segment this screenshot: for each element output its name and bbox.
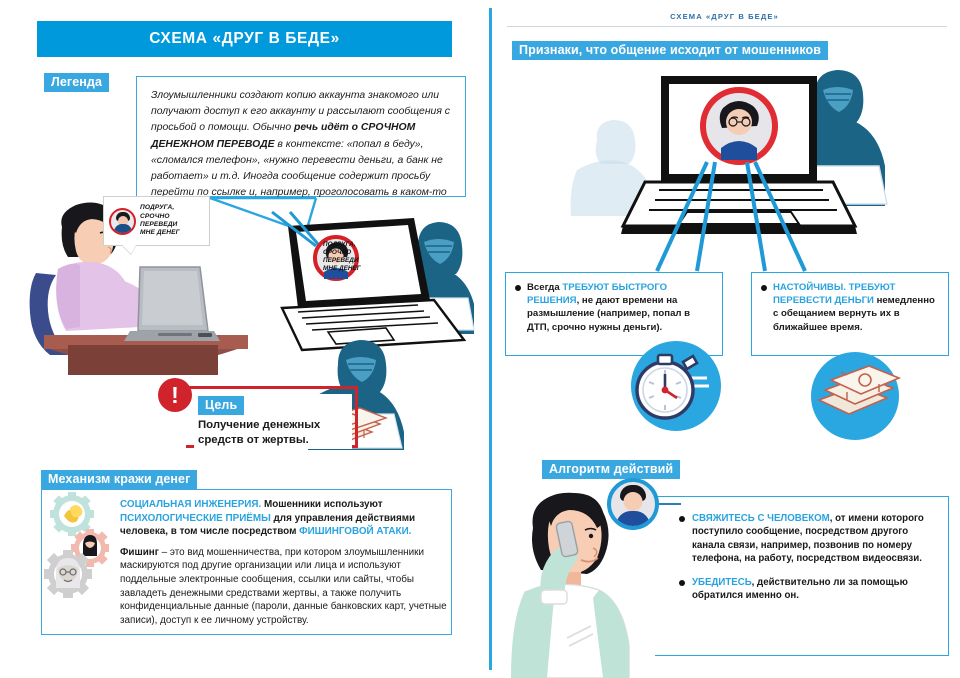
bullet-icon xyxy=(761,285,767,291)
laptop-fraudsters-svg xyxy=(537,66,937,271)
money-stack-icon xyxy=(799,346,905,448)
victim-bubble-line-1: ПОДРУГА, xyxy=(140,204,180,212)
gears-illustration xyxy=(42,492,130,600)
money-stack-svg xyxy=(799,346,905,448)
right-panel-divider xyxy=(507,26,947,27)
algorithm-item: УБЕДИТЕСЬ, действительно ли за помощью о… xyxy=(679,576,941,603)
fraudster-bubble-line-3: ПЕРЕВЕДИ xyxy=(323,257,361,265)
signs-tag: Признаки, что общение исходит от мошенни… xyxy=(512,41,828,60)
victim-bubble-text: ПОДРУГА, СРОЧНО ПЕРЕВЕДИ МНЕ ДЕНЕГ xyxy=(140,204,180,238)
mechanism-paragraph-1: СОЦИАЛЬНАЯ ИНЖЕНЕРИЯ. Мошенники использу… xyxy=(120,498,450,539)
stopwatch-icon xyxy=(621,336,727,438)
mech-p2-run1: Фишинг xyxy=(120,547,159,558)
algorithm-item: СВЯЖИТЕСЬ С ЧЕЛОВЕКОМ, от имени которого… xyxy=(679,512,941,566)
mech-p2-run2: – это вид мошенничества, при котором зло… xyxy=(120,547,447,626)
right-panel-kicker: СХЕМА «ДРУГ В БЕДЕ» xyxy=(489,12,960,21)
exclamation-mark-icon: ! xyxy=(158,378,192,412)
infographic-page: СХЕМА «ДРУГ В БЕДЕ» Легенда Злоумышленни… xyxy=(0,0,960,678)
bullet-icon xyxy=(679,516,685,522)
left-panel: СХЕМА «ДРУГ В БЕДЕ» Легенда Злоумышленни… xyxy=(0,0,489,678)
sign-callout-1-row: Всегда ТРЕБУЮТ БЫСТРОГО РЕШЕНИЯ, не дают… xyxy=(515,281,714,334)
fraudster-bubble-line-1: ПОДРУГА, xyxy=(323,241,361,249)
mech-p1-run5: ФИШИНГОВОЙ АТАКИ. xyxy=(299,526,411,537)
mechanism-text: СОЦИАЛЬНАЯ ИНЖЕНЕРИЯ. Мошенники использу… xyxy=(120,498,450,627)
sign-callout-1-text: Всегда ТРЕБУЮТ БЫСТРОГО РЕШЕНИЯ, не дают… xyxy=(527,281,714,334)
mechanism-paragraph-2: Фишинг – это вид мошенничества, при кото… xyxy=(120,546,450,628)
bullet-icon xyxy=(515,285,521,291)
victim-speech-bubble: ПОДРУГА, СРОЧНО ПЕРЕВЕДИ МНЕ ДЕНЕГ xyxy=(103,196,210,246)
legend-box: Злоумышленники создают копию аккаунта зн… xyxy=(136,76,466,197)
right-panel: СХЕМА «ДРУГ В БЕДЕ» Признаки, что общени… xyxy=(489,0,960,678)
goal-callout: ! Цель Получение денежных средств от жер… xyxy=(158,378,358,456)
fraudster-bubble-line-4: МНЕ ДЕНЕГ xyxy=(323,265,361,273)
goal-text: Получение денежных средств от жертвы. xyxy=(198,418,348,447)
stopwatch-svg xyxy=(621,336,727,438)
fake-friend-avatar-icon xyxy=(109,208,136,235)
legend-tag: Легенда xyxy=(44,73,109,92)
fraudster-bubble-text: ПОДРУГА, СРОЧНО ПЕРЕВЕДИ МНЕ ДЕНЕГ xyxy=(323,241,361,273)
mech-p1-run1: СОЦИАЛЬНАЯ ИНЖЕНЕРИЯ. xyxy=(120,499,261,510)
victim-bubble-line-3: ПЕРЕВЕДИ xyxy=(140,221,180,229)
algorithm-item-1-text: СВЯЖИТЕСЬ С ЧЕЛОВЕКОМ, от имени которого… xyxy=(692,512,941,566)
mech-p1-run2: Мошенники используют xyxy=(261,499,382,510)
sign1-run1: Всегда xyxy=(527,282,562,293)
algo1-run2: СВЯЖИТЕСЬ С ЧЕЛОВЕКОМ xyxy=(692,513,830,524)
sign-callout-2-text: НАСТОЙЧИВЫ. ТРЕБУЮТ ПЕРЕВЕСТИ ДЕНЬГИ нем… xyxy=(773,281,940,334)
laptop-with-fraudsters-illustration xyxy=(537,66,937,271)
mechanism-tag: Механизм кражи денег xyxy=(41,470,197,489)
gears-svg xyxy=(42,492,130,600)
trusted-contact-avatar-icon xyxy=(607,478,659,530)
gear-person-icon xyxy=(44,550,92,598)
algo2-run2: УБЕДИТЕСЬ xyxy=(692,577,752,588)
algorithm-list: СВЯЖИТЕСЬ С ЧЕЛОВЕКОМ, от имени которого… xyxy=(679,512,941,612)
sign-callout-2: НАСТОЙЧИВЫ. ТРЕБУЮТ ПЕРЕВЕСТИ ДЕНЬГИ нем… xyxy=(751,272,949,356)
fraudster-screen-message: ПОДРУГА, СРОЧНО ПЕРЕВЕДИ МНЕ ДЕНЕГ xyxy=(323,233,408,281)
victim-bubble-line-4: МНЕ ДЕНЕГ xyxy=(140,229,180,237)
fraudster-bubble-line-2: СРОЧНО xyxy=(323,249,361,257)
algorithm-tag: Алгоритм действий xyxy=(542,460,680,479)
sign-callout-2-row: НАСТОЙЧИВЫ. ТРЕБУЮТ ПЕРЕВЕСТИ ДЕНЬГИ нем… xyxy=(761,281,940,334)
page-title: СХЕМА «ДРУГ В БЕДЕ» xyxy=(37,21,452,57)
bullet-icon xyxy=(679,580,685,586)
algorithm-item-2-text: УБЕДИТЕСЬ, действительно ли за помощью о… xyxy=(692,576,941,603)
goal-tag: Цель xyxy=(198,396,244,415)
victim-bubble-line-2: СРОЧНО xyxy=(140,213,180,221)
mech-p1-run3: ПСИХОЛОГИЧЕСКИЕ ПРИЁМЫ xyxy=(120,513,271,524)
goal-content: Цель Получение денежных средств от жертв… xyxy=(194,394,352,449)
